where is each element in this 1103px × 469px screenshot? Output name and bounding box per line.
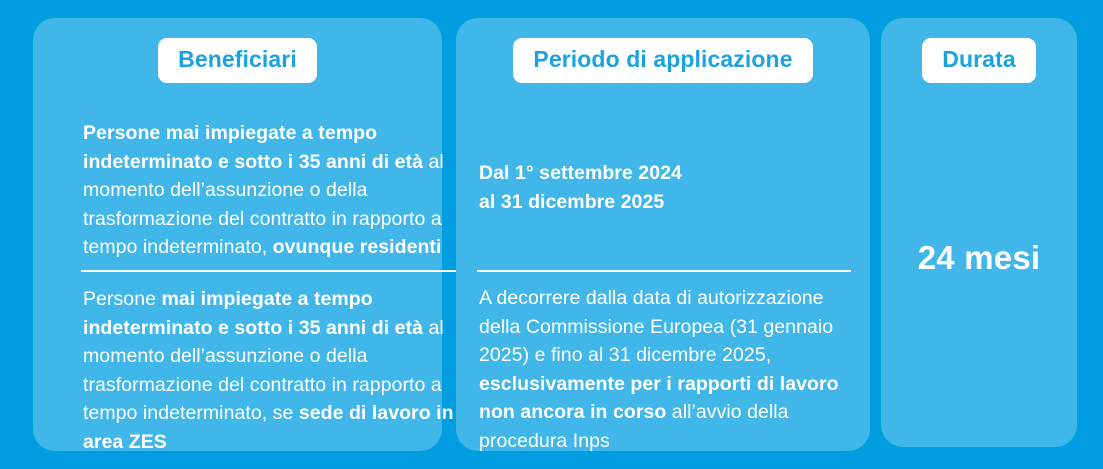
paragraph-beneficiari-2: Persone mai impiegate a tempo indetermin…	[83, 285, 463, 456]
body-durata: 24 mesi	[881, 96, 1077, 447]
paragraph-periodo-2: A decorrere dalla data di autorizzazione…	[479, 284, 849, 455]
durata-value: 24 mesi	[881, 241, 1077, 274]
card-durata: Durata 24 mesi	[881, 18, 1077, 447]
divider-beneficiari	[81, 270, 463, 272]
badge-periodo-applicazione: Periodo di applicazione	[513, 38, 812, 83]
card-beneficiari: Beneficiari Persone mai impiegate a temp…	[33, 18, 442, 451]
body-periodo: Dal 1° settembre 2024al 31 dicembre 2025…	[456, 96, 870, 451]
badge-row-beneficiari: Beneficiari	[33, 38, 442, 83]
infographic-board: Beneficiari Persone mai impiegate a temp…	[0, 0, 1103, 469]
body-beneficiari: Persone mai impiegate a tempo indetermin…	[33, 96, 442, 451]
badge-durata: Durata	[922, 38, 1035, 83]
badge-row-durata: Durata	[881, 38, 1077, 83]
paragraph-periodo-1: Dal 1° settembre 2024al 31 dicembre 2025	[479, 159, 849, 216]
paragraph-beneficiari-1: Persone mai impiegate a tempo indetermin…	[83, 119, 463, 262]
badge-row-periodo: Periodo di applicazione	[456, 38, 870, 83]
badge-beneficiari: Beneficiari	[158, 38, 317, 83]
card-periodo-applicazione: Periodo di applicazione Dal 1° settembre…	[456, 18, 870, 451]
divider-periodo	[477, 270, 851, 272]
